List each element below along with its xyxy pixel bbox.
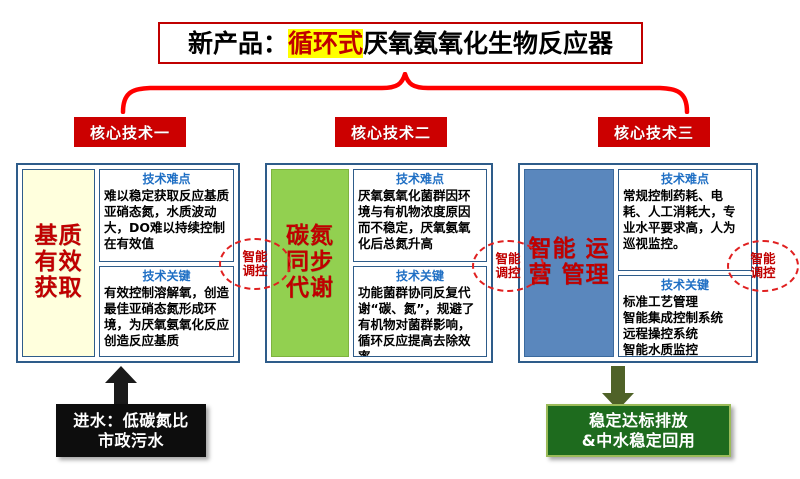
tech-panel-2-key-title: 技术关键 [358, 269, 482, 284]
tech-panel-1-difficulty-body: 难以稳定获取反应基质亚硝态氮，水质波动大，DO难以持续控制在有效值 [104, 188, 229, 252]
tech-panel-2: 碳氮 同步 代谢 技术难点 厌氧氨氧化菌群因环境与有机物浓度原因而不稳定，厌氧氨… [265, 163, 493, 363]
title-highlight: 循环式 [288, 29, 363, 58]
tech-panel-3: 智能 运营 管理 技术难点 常规控制药耗、电耗、人工消耗大，专业水平要求高，人为… [518, 163, 758, 363]
tech-panel-1-content: 技术难点 难以稳定获取反应基质亚硝态氮，水质波动大，DO难以持续控制在有效值 技… [99, 169, 234, 357]
tech-panel-3-key-body: 标准工艺管理 智能集成控制系统 远程操控系统 智能水质监控 [623, 294, 747, 357]
core-tech-header-1: 核心技术一 [74, 117, 186, 147]
inlet-box: 进水：低碳氮比 市政污水 [56, 404, 206, 457]
tech-panel-1-difficulty: 技术难点 难以稳定获取反应基质亚硝态氮，水质波动大，DO难以持续控制在有效值 [99, 169, 234, 262]
core-tech-header-2-label: 核心技术二 [351, 122, 431, 143]
tech-panel-2-difficulty: 技术难点 厌氧氨氧化菌群因环境与有机物浓度原因而不稳定，厌氧氨氧化后总氮升高 [353, 169, 487, 262]
tech-panel-3-difficulty-title: 技术难点 [623, 172, 747, 187]
inlet-label: 进水：低碳氮比 市政污水 [73, 411, 189, 451]
core-tech-header-3-label: 核心技术三 [614, 122, 694, 143]
outlet-box: 稳定达标排放 &中水稳定回用 [546, 404, 731, 457]
smart-control-badge-1: 智能 调控 [219, 238, 291, 290]
smart-control-badge-2-label: 智能 调控 [495, 252, 520, 281]
tech-panel-2-content: 技术难点 厌氧氨氧化菌群因环境与有机物浓度原因而不稳定，厌氧氨氧化后总氮升高 技… [353, 169, 487, 357]
tech-panel-3-key-title: 技术关键 [623, 278, 747, 293]
tech-panel-1-difficulty-title: 技术难点 [104, 172, 229, 187]
tech-panel-3-difficulty-body: 常规控制药耗、电耗、人工消耗大，专业水平要求高，人为巡视监控。 [623, 188, 747, 252]
core-tech-header-3: 核心技术三 [598, 117, 710, 147]
tech-panel-1-key: 技术关键 有效控制溶解氧，创造最佳亚硝态氮形成环境，为厌氧氨氧化反应创造反应基质 [99, 266, 234, 357]
tech-panel-3-key: 技术关键 标准工艺管理 智能集成控制系统 远程操控系统 智能水质监控 [618, 275, 752, 357]
title-prefix: 新产品： [188, 29, 288, 58]
core-tech-header-2: 核心技术二 [335, 117, 447, 147]
tech-panel-2-difficulty-body: 厌氧氨氧化菌群因环境与有机物浓度原因而不稳定，厌氧氨氧化后总氮升高 [358, 188, 482, 252]
smart-control-badge-1-label: 智能 调控 [242, 250, 267, 279]
tech-panel-1-key-body: 有效控制溶解氧，创造最佳亚硝态氮形成环境，为厌氧氨氧化反应创造反应基质 [104, 285, 229, 349]
red-curly-brace-icon [120, 72, 690, 114]
smart-control-badge-3: 智能 调控 [727, 240, 799, 292]
core-tech-header-1-label: 核心技术一 [90, 122, 170, 143]
tech-panel-1-key-title: 技术关键 [104, 269, 229, 284]
tech-panel-2-difficulty-title: 技术难点 [358, 172, 482, 187]
page-title: 新产品：循环式厌氧氨氧化生物反应器 [188, 31, 613, 56]
tech-panel-1-tag-label: 基质 有效 获取 [25, 224, 92, 301]
tech-panel-1: 基质 有效 获取 技术难点 难以稳定获取反应基质亚硝态氮，水质波动大，DO难以持… [16, 163, 240, 363]
product-title-box: 新产品：循环式厌氧氨氧化生物反应器 [158, 22, 643, 64]
outlet-label: 稳定达标排放 &中水稳定回用 [582, 411, 695, 451]
title-suffix: 厌氧氨氧化生物反应器 [363, 29, 613, 58]
tech-panel-1-tag: 基质 有效 获取 [22, 169, 95, 357]
smart-control-badge-2: 智能 调控 [472, 240, 544, 292]
smart-control-badge-3-label: 智能 调控 [750, 252, 775, 281]
tech-panel-2-key: 技术关键 功能菌群协同反复代谢“碳、氮”，规避了有机物对菌群影响，循环反应提高去… [353, 266, 487, 357]
tech-panel-2-key-body: 功能菌群协同反复代谢“碳、氮”，规避了有机物对菌群影响，循环反应提高去除效率 [358, 285, 482, 357]
